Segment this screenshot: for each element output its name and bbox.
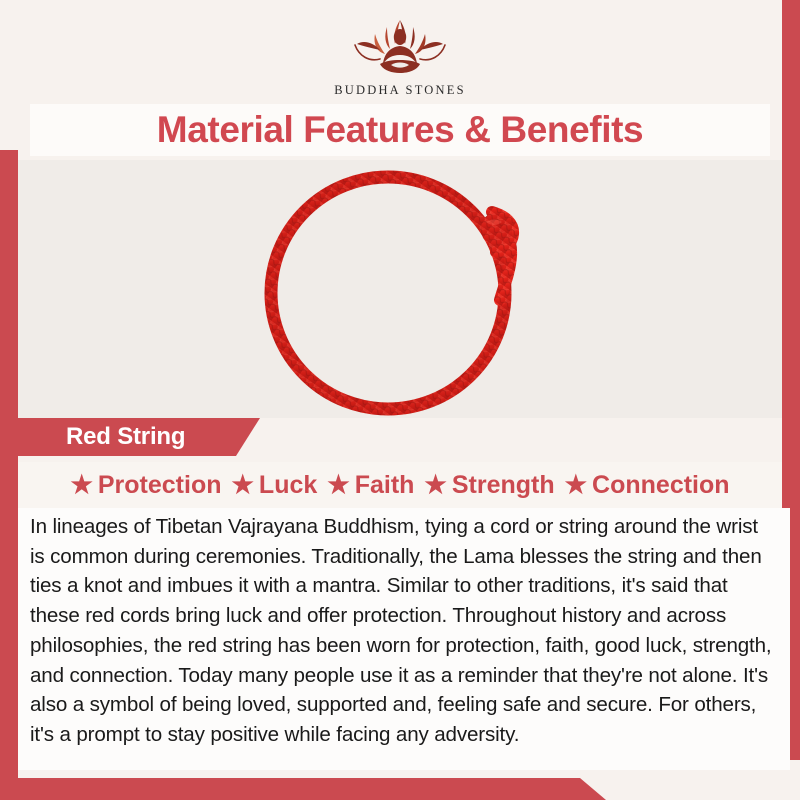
- title-band: Material Features & Benefits: [30, 104, 770, 156]
- infographic-page: BUDDHA STONES Material Features & Benefi…: [0, 0, 800, 800]
- benefit-label: Faith: [355, 471, 415, 500]
- benefit-item: ★ Faith: [327, 471, 414, 500]
- brand-logo: BUDDHA STONES: [18, 14, 782, 98]
- benefit-label: Strength: [452, 471, 555, 500]
- benefit-item: ★ Protection: [70, 471, 221, 500]
- benefits-list: ★ Protection ★ Luck ★ Faith ★ Strength ★…: [18, 462, 782, 508]
- header: BUDDHA STONES Material Features & Benefi…: [18, 0, 782, 160]
- star-icon: ★: [70, 473, 92, 498]
- star-icon: ★: [565, 473, 587, 498]
- frame-border-bottom-notch: [580, 778, 606, 800]
- star-icon: ★: [327, 473, 349, 498]
- lotus-meditation-figure-icon: [335, 14, 465, 80]
- star-icon: ★: [232, 473, 254, 498]
- material-banner: Red String: [18, 418, 260, 456]
- benefit-label: Protection: [98, 471, 222, 500]
- product-photo: [18, 160, 782, 418]
- brand-name: BUDDHA STONES: [334, 83, 466, 98]
- section-banner-row: Red String: [18, 418, 782, 462]
- description-text: In lineages of Tibetan Vajrayana Buddhis…: [30, 512, 776, 750]
- description-block: In lineages of Tibetan Vajrayana Buddhis…: [18, 508, 790, 770]
- benefit-item: ★ Luck: [232, 471, 318, 500]
- red-string-bracelet-image: [230, 160, 570, 418]
- frame-border-right-upper: [782, 0, 800, 430]
- star-icon: ★: [424, 473, 446, 498]
- material-label: Red String: [66, 423, 185, 451]
- benefit-label: Connection: [592, 471, 730, 500]
- frame-border-bottom: [0, 778, 580, 800]
- frame-border-left: [0, 150, 18, 800]
- benefit-item: ★ Strength: [424, 471, 554, 500]
- page-title: Material Features & Benefits: [157, 109, 643, 151]
- benefit-item: ★ Connection: [565, 471, 730, 500]
- benefit-label: Luck: [259, 471, 317, 500]
